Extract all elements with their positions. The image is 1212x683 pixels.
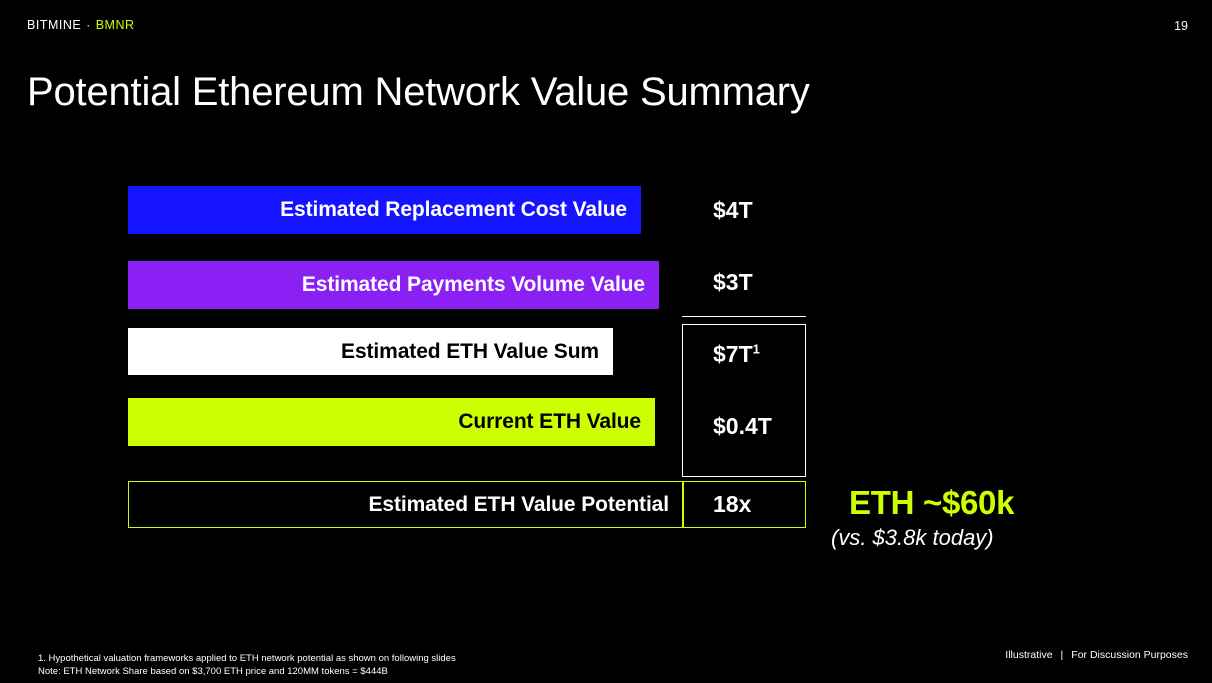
- footer-illustrative: Illustrative: [1005, 649, 1052, 661]
- row-label-eth-value-sum: Estimated ETH Value Sum: [128, 328, 613, 375]
- callout-subline: (vs. $3.8k today): [831, 525, 994, 551]
- value-summary-diagram: Estimated Replacement Cost Value Estimat…: [0, 0, 1212, 683]
- footer-discussion-purposes: For Discussion Purposes: [1071, 649, 1188, 661]
- footnote-marker: 1: [753, 341, 760, 356]
- footnote-2: Note: ETH Network Share based on $3,700 …: [38, 666, 388, 677]
- row-value-eth-value-sum-text: $7T: [713, 341, 753, 367]
- row-value-eth-value-sum: $7T1: [713, 341, 760, 368]
- row-label-payments-volume: Estimated Payments Volume Value: [128, 261, 659, 309]
- row-label-replacement-cost: Estimated Replacement Cost Value: [128, 186, 641, 234]
- footer-right: Illustrative | For Discussion Purposes: [1005, 649, 1188, 661]
- row-label-eth-value-potential: Estimated ETH Value Potential: [128, 481, 684, 528]
- row-label-current-eth-value: Current ETH Value: [128, 398, 655, 446]
- row-value-replacement-cost: $4T: [713, 197, 753, 224]
- sum-divider-line: [682, 316, 806, 317]
- slide: BITMINE · BMNR 19 Potential Ethereum Net…: [0, 0, 1212, 683]
- callout-headline: ETH ~$60k: [849, 484, 1014, 522]
- row-value-payments-volume: $3T: [713, 269, 753, 296]
- row-value-current-eth-value: $0.4T: [713, 413, 772, 440]
- row-value-eth-value-potential: 18x: [713, 491, 751, 518]
- footer-separator: |: [1061, 649, 1064, 661]
- footnote-1: 1. Hypothetical valuation frameworks app…: [38, 653, 456, 664]
